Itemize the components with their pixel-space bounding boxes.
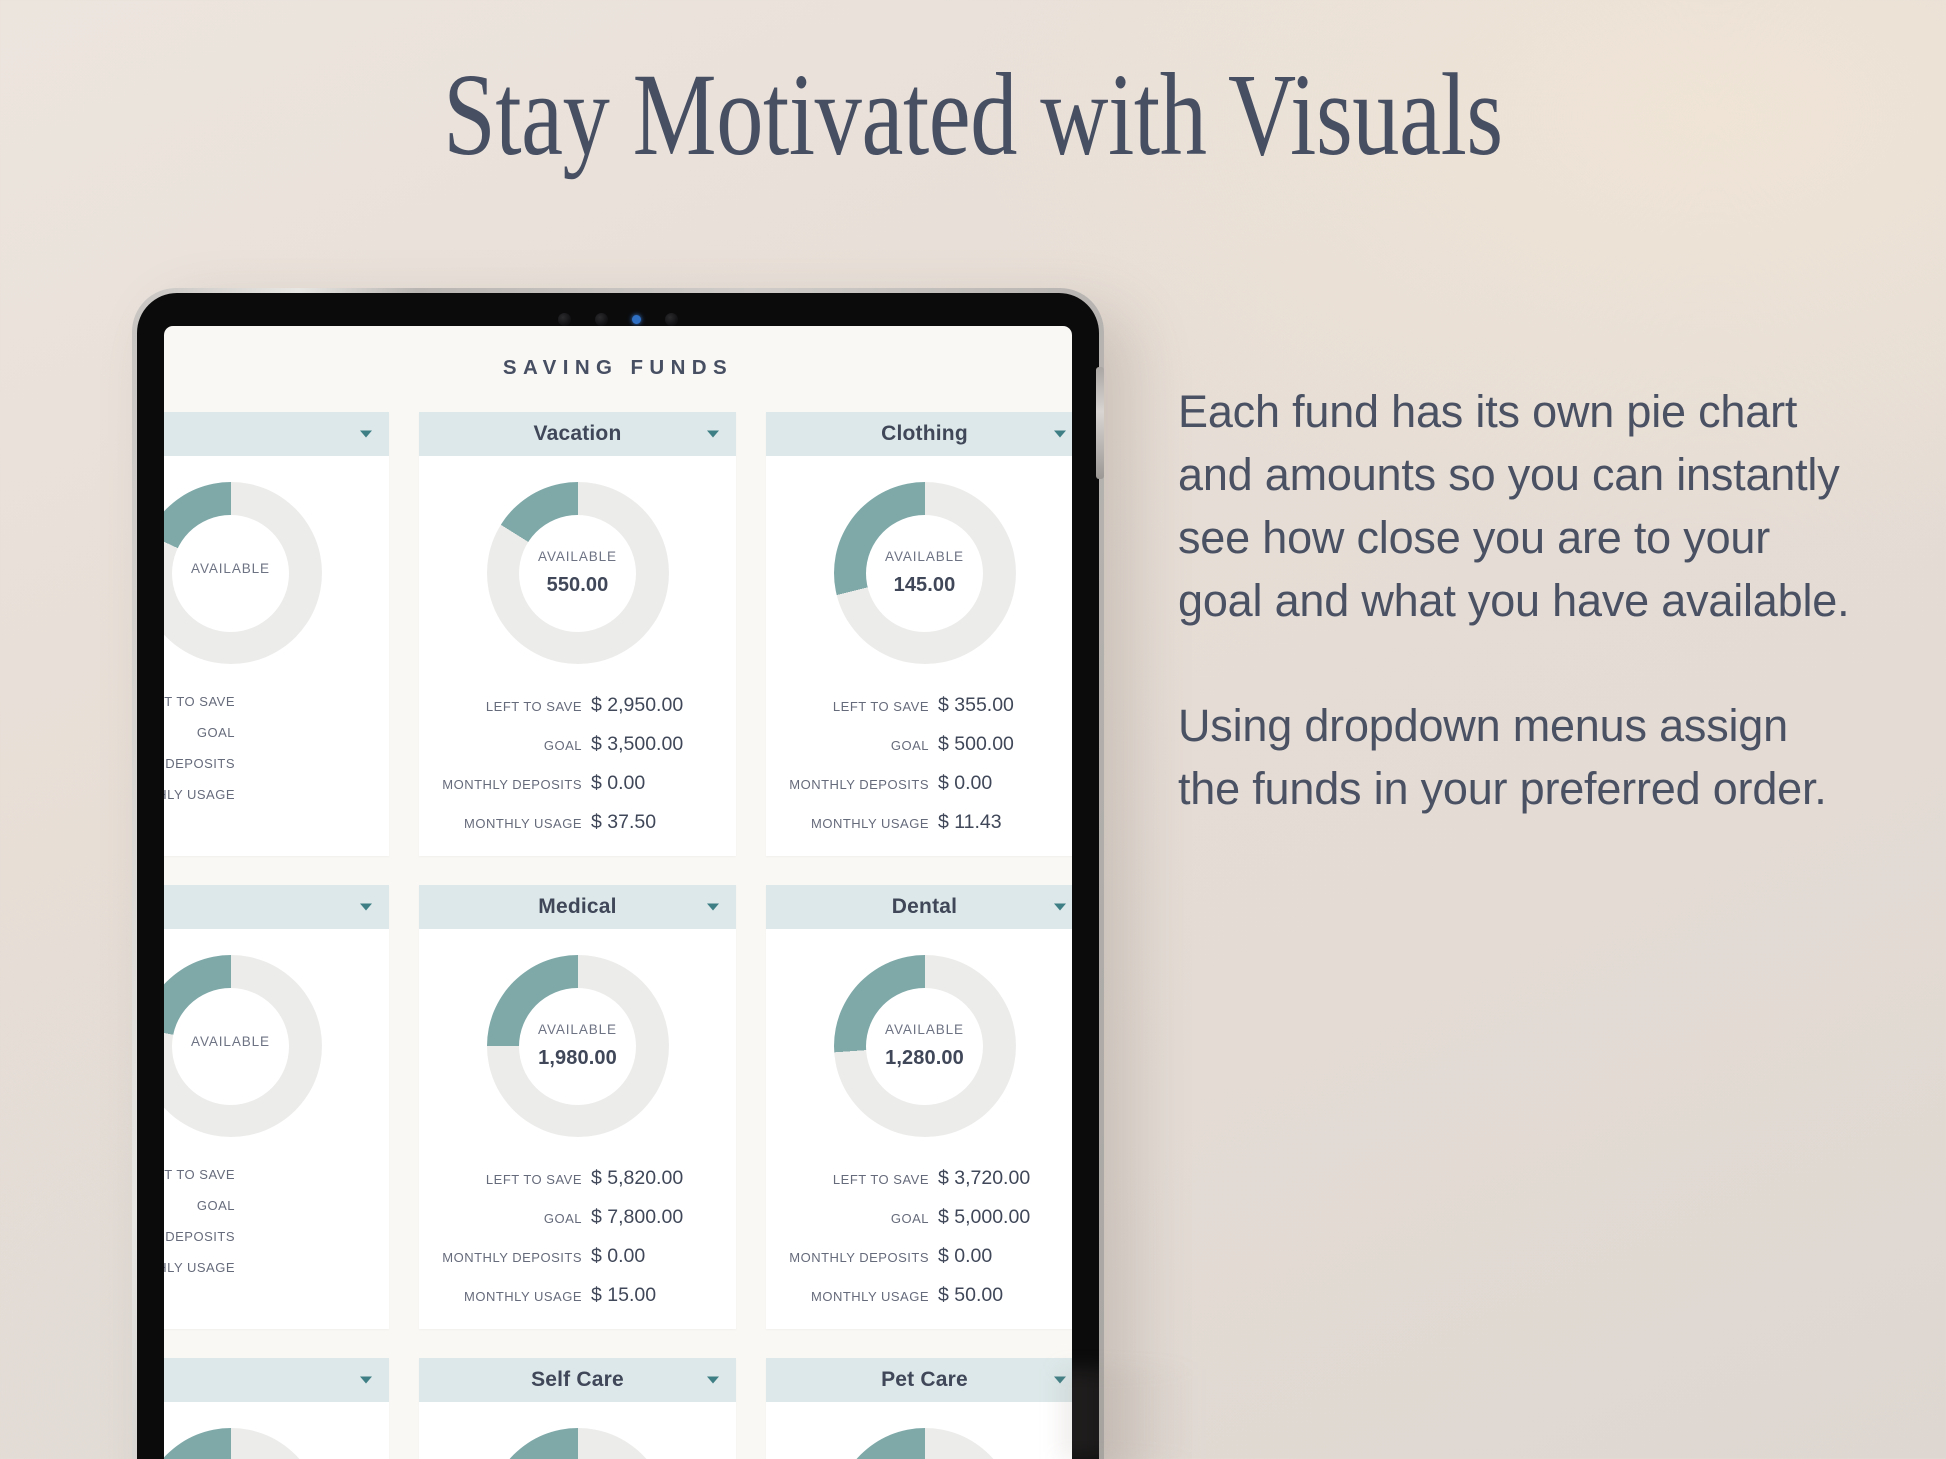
power-button[interactable]	[1096, 367, 1104, 479]
stat-monthly-deposits-label: MONTHLY DEPOSITS	[164, 756, 235, 771]
donut-center: AVAILABLE	[172, 988, 289, 1105]
copy-paragraph-1: Each fund has its own pie chart and amou…	[1178, 380, 1858, 632]
stat-goal-value: $ 3,500.00	[591, 733, 713, 756]
stat-monthly-usage-value: $ 37.50	[591, 811, 713, 834]
progress-donut-chart: AVAILABLE	[164, 1428, 322, 1459]
stat-left-to-save: LEFT TO SAVE$ 355.00	[789, 694, 1060, 717]
chevron-down-icon[interactable]	[1054, 904, 1066, 911]
fund-card-medical: MedicalAVAILABLE1,980.00LEFT TO SAVE$ 5,…	[419, 885, 736, 1329]
fund-card-header[interactable]: Clothing	[766, 412, 1072, 456]
donut-wrapper: AVAILABLE	[164, 1428, 389, 1459]
fund-card-partial: AVAILABLELEFT TO SAVEGOALMONTHLY DEPOSIT…	[164, 1358, 389, 1459]
stat-monthly-deposits: MONTHLY DEPOSITS$ 0.00	[442, 1245, 713, 1268]
stat-left-to-save-label: LEFT TO SAVE	[164, 1167, 235, 1182]
fund-card-title: Vacation	[534, 422, 622, 446]
stat-goal-label: GOAL	[544, 738, 582, 753]
chevron-down-icon[interactable]	[707, 431, 719, 438]
stat-left-to-save-label: LEFT TO SAVE	[833, 699, 929, 714]
stat-monthly-usage: MONTHLY USAGE$ 11.43	[789, 811, 1060, 834]
stat-monthly-deposits: MONTHLY DEPOSITS$ 0.00	[442, 772, 713, 795]
stat-goal: GOAL$ 3,500.00	[442, 733, 713, 756]
fund-card-row: AVAILABLELEFT TO SAVEGOALMONTHLY DEPOSIT…	[164, 1358, 1072, 1459]
screen-title: SAVING FUNDS	[164, 326, 1072, 380]
donut-wrapper: AVAILABLE	[766, 1428, 1072, 1459]
stat-monthly-deposits: MONTHLY DEPOSITS$ 0.00	[789, 772, 1060, 795]
progress-donut-chart: AVAILABLE1,280.00	[834, 955, 1016, 1137]
fund-card-title: Medical	[538, 895, 616, 919]
fund-card-body: AVAILABLELEFT TO SAVEGOALMONTHLY DEPOSIT…	[164, 456, 389, 824]
fund-card-title: Self Care	[531, 1368, 624, 1392]
fund-card-row: AVAILABLELEFT TO SAVEGOALMONTHLY DEPOSIT…	[164, 412, 1072, 885]
stat-left-to-save: LEFT TO SAVE	[164, 694, 366, 709]
stat-monthly-deposits-label: MONTHLY DEPOSITS	[442, 777, 582, 792]
stat-monthly-usage-label: MONTHLY USAGE	[464, 1289, 582, 1304]
donut-wrapper: AVAILABLE1,980.00	[419, 955, 736, 1137]
available-label: AVAILABLE	[885, 549, 964, 564]
available-value: 550.00	[547, 574, 609, 597]
stat-goal-value: $ 5,000.00	[938, 1206, 1060, 1229]
stat-monthly-usage-label: MONTHLY USAGE	[464, 816, 582, 831]
stat-goal: GOAL$ 5,000.00	[789, 1206, 1060, 1229]
stat-monthly-deposits: MONTHLY DEPOSITS$ 0.00	[789, 1245, 1060, 1268]
progress-donut-chart: AVAILABLE	[487, 1428, 669, 1459]
fund-card-row: AVAILABLELEFT TO SAVEGOALMONTHLY DEPOSIT…	[164, 885, 1072, 1358]
fund-card-body: AVAILABLE550.00LEFT TO SAVE$ 2,950.00GOA…	[419, 456, 736, 856]
fund-card-header[interactable]	[164, 885, 389, 929]
stat-monthly-usage-value: $ 50.00	[938, 1284, 1060, 1307]
progress-donut-chart: AVAILABLE	[164, 482, 322, 664]
fund-card-header[interactable]: Dental	[766, 885, 1072, 929]
camera-dot-icon	[595, 313, 608, 326]
fund-card-stats: LEFT TO SAVE$ 3,720.00GOAL$ 5,000.00MONT…	[766, 1137, 1072, 1307]
stat-monthly-deposits: MONTHLY DEPOSITS	[164, 1229, 366, 1244]
stat-monthly-deposits-label: MONTHLY DEPOSITS	[164, 1229, 235, 1244]
stat-monthly-usage-value: $ 11.43	[938, 811, 1060, 834]
stat-goal-label: GOAL	[891, 738, 929, 753]
fund-card-title: Pet Care	[881, 1368, 968, 1392]
available-label: AVAILABLE	[191, 561, 270, 576]
fund-cards-grid: AVAILABLELEFT TO SAVEGOALMONTHLY DEPOSIT…	[164, 412, 1072, 1459]
donut-center: AVAILABLE1,980.00	[519, 988, 636, 1105]
donut-wrapper: AVAILABLE	[164, 955, 389, 1137]
stat-monthly-usage: MONTHLY USAGE	[164, 787, 366, 802]
chevron-down-icon[interactable]	[360, 431, 372, 438]
stat-left-to-save: LEFT TO SAVE$ 2,950.00	[442, 694, 713, 717]
stat-left-to-save-label: LEFT TO SAVE	[833, 1172, 929, 1187]
stat-monthly-deposits-value: $ 0.00	[938, 772, 1060, 795]
stat-monthly-usage: MONTHLY USAGE$ 37.50	[442, 811, 713, 834]
stat-left-to-save-label: LEFT TO SAVE	[486, 1172, 582, 1187]
stat-monthly-usage-label: MONTHLY USAGE	[164, 1260, 235, 1275]
fund-card-stats: LEFT TO SAVEGOALMONTHLY DEPOSITSMONTHLY …	[164, 1137, 389, 1275]
chevron-down-icon[interactable]	[707, 904, 719, 911]
fund-card-vacation: VacationAVAILABLE550.00LEFT TO SAVE$ 2,9…	[419, 412, 736, 856]
stat-left-to-save-value: $ 5,820.00	[591, 1167, 713, 1190]
fund-card-stats: LEFT TO SAVEGOALMONTHLY DEPOSITSMONTHLY …	[164, 664, 389, 802]
stat-monthly-deposits: MONTHLY DEPOSITS	[164, 756, 366, 771]
stat-monthly-usage: MONTHLY USAGE$ 50.00	[789, 1284, 1060, 1307]
stat-goal-label: GOAL	[891, 1211, 929, 1226]
stat-monthly-deposits-label: MONTHLY DEPOSITS	[442, 1250, 582, 1265]
progress-donut-chart: AVAILABLE1,980.00	[487, 955, 669, 1137]
fund-card-body: AVAILABLELEFT TO SAVEGOALMONTHLY DEPOSIT…	[164, 929, 389, 1297]
page-title: Stay Motivated with Visuals	[195, 52, 1752, 177]
stat-goal-label: GOAL	[197, 1198, 235, 1213]
stat-monthly-usage-label: MONTHLY USAGE	[164, 787, 235, 802]
stat-left-to-save-value: $ 2,950.00	[591, 694, 713, 717]
fund-card-body: AVAILABLE1,280.00LEFT TO SAVE$ 3,720.00G…	[766, 929, 1072, 1329]
fund-card-header[interactable]	[164, 1358, 389, 1402]
tablet-screen: SAVING FUNDS AVAILABLELEFT TO SAVEGOALMO…	[164, 326, 1072, 1459]
copy-paragraph-2: Using dropdown menus assign the funds in…	[1178, 694, 1858, 820]
stat-left-to-save: LEFT TO SAVE$ 3,720.00	[789, 1167, 1060, 1190]
stat-goal: GOAL$ 500.00	[789, 733, 1060, 756]
fund-card-stats: LEFT TO SAVE$ 5,820.00GOAL$ 7,800.00MONT…	[419, 1137, 736, 1307]
fund-card-partial: AVAILABLELEFT TO SAVEGOALMONTHLY DEPOSIT…	[164, 885, 389, 1329]
fund-card-partial: AVAILABLELEFT TO SAVEGOALMONTHLY DEPOSIT…	[164, 412, 389, 856]
fund-card-stats: LEFT TO SAVE$ 355.00GOAL$ 500.00MONTHLY …	[766, 664, 1072, 834]
available-label: AVAILABLE	[885, 1022, 964, 1037]
stat-left-to-save: LEFT TO SAVE$ 5,820.00	[442, 1167, 713, 1190]
stat-left-to-save-label: LEFT TO SAVE	[486, 699, 582, 714]
progress-donut-chart: AVAILABLE	[834, 1428, 1016, 1459]
fund-card-header[interactable]: Self Care	[419, 1358, 736, 1402]
fund-card-stats: LEFT TO SAVE$ 2,950.00GOAL$ 3,500.00MONT…	[419, 664, 736, 834]
stat-goal-value: $ 500.00	[938, 733, 1060, 756]
donut-wrapper: AVAILABLE	[419, 1428, 736, 1459]
donut-center: AVAILABLE550.00	[519, 515, 636, 632]
fund-card-header[interactable]: Medical	[419, 885, 736, 929]
stat-monthly-deposits-value: $ 0.00	[591, 772, 713, 795]
available-value: 1,280.00	[885, 1047, 964, 1070]
stat-monthly-usage-label: MONTHLY USAGE	[811, 1289, 929, 1304]
fund-card-dental: DentalAVAILABLE1,280.00LEFT TO SAVE$ 3,7…	[766, 885, 1072, 1329]
donut-wrapper: AVAILABLE145.00	[766, 482, 1072, 664]
camera-lens-icon	[665, 313, 678, 326]
stat-monthly-usage-label: MONTHLY USAGE	[811, 816, 929, 831]
stat-monthly-deposits-label: MONTHLY DEPOSITS	[789, 777, 929, 792]
stat-monthly-deposits-label: MONTHLY DEPOSITS	[789, 1250, 929, 1265]
donut-center: AVAILABLE	[172, 515, 289, 632]
fund-card-body: AVAILABLE1,980.00LEFT TO SAVE$ 5,820.00G…	[419, 929, 736, 1329]
stat-goal: GOAL	[164, 725, 366, 740]
stat-monthly-usage-value: $ 15.00	[591, 1284, 713, 1307]
fund-card-body: AVAILABLE145.00LEFT TO SAVE$ 355.00GOAL$…	[766, 456, 1072, 856]
stat-goal-value: $ 7,800.00	[591, 1206, 713, 1229]
stat-monthly-usage: MONTHLY USAGE$ 15.00	[442, 1284, 713, 1307]
stat-goal: GOAL$ 7,800.00	[442, 1206, 713, 1229]
stat-left-to-save-value: $ 355.00	[938, 694, 1060, 717]
donut-wrapper: AVAILABLE	[164, 482, 389, 664]
fund-card-pet-care: Pet CareAVAILABLELEFT TO SAVEGOALMONTHLY…	[766, 1358, 1072, 1459]
tablet-bezel: SAVING FUNDS AVAILABLELEFT TO SAVEGOALMO…	[137, 293, 1099, 1459]
marketing-copy: Each fund has its own pie chart and amou…	[1178, 380, 1858, 820]
chevron-down-icon[interactable]	[360, 1377, 372, 1384]
stat-goal-label: GOAL	[197, 725, 235, 740]
device-shadow	[1060, 1369, 1200, 1459]
fund-card-body: AVAILABLELEFT TO SAVEGOALMONTHLY DEPOSIT…	[766, 1402, 1072, 1459]
fund-card-header[interactable]: Pet Care	[766, 1358, 1072, 1402]
stat-left-to-save-value: $ 3,720.00	[938, 1167, 1060, 1190]
available-value: 1,980.00	[538, 1047, 617, 1070]
stat-goal: GOAL	[164, 1198, 366, 1213]
fund-card-title: Dental	[892, 895, 957, 919]
fund-card-body: AVAILABLELEFT TO SAVEGOALMONTHLY DEPOSIT…	[419, 1402, 736, 1459]
progress-donut-chart: AVAILABLE	[164, 955, 322, 1137]
fund-card-self-care: Self CareAVAILABLELEFT TO SAVEGOALMONTHL…	[419, 1358, 736, 1459]
donut-wrapper: AVAILABLE1,280.00	[766, 955, 1072, 1137]
stat-goal-label: GOAL	[544, 1211, 582, 1226]
fund-card-title: Clothing	[881, 422, 968, 446]
stat-monthly-deposits-value: $ 0.00	[591, 1245, 713, 1268]
donut-wrapper: AVAILABLE550.00	[419, 482, 736, 664]
available-value: 145.00	[894, 574, 956, 597]
stat-monthly-usage: MONTHLY USAGE	[164, 1260, 366, 1275]
fund-card-header[interactable]	[164, 412, 389, 456]
available-label: AVAILABLE	[538, 549, 617, 564]
stat-left-to-save-label: LEFT TO SAVE	[164, 694, 235, 709]
donut-center: AVAILABLE1,280.00	[866, 988, 983, 1105]
camera-array	[137, 313, 1099, 326]
available-label: AVAILABLE	[191, 1034, 270, 1049]
fund-card-header[interactable]: Vacation	[419, 412, 736, 456]
progress-donut-chart: AVAILABLE145.00	[834, 482, 1016, 664]
available-label: AVAILABLE	[538, 1022, 617, 1037]
fund-card-clothing: ClothingAVAILABLE145.00LEFT TO SAVE$ 355…	[766, 412, 1072, 856]
stat-monthly-deposits-value: $ 0.00	[938, 1245, 1060, 1268]
fund-card-body: AVAILABLELEFT TO SAVEGOALMONTHLY DEPOSIT…	[164, 1402, 389, 1459]
donut-center: AVAILABLE145.00	[866, 515, 983, 632]
camera-dot-icon	[558, 313, 571, 326]
progress-donut-chart: AVAILABLE550.00	[487, 482, 669, 664]
chevron-down-icon[interactable]	[1054, 431, 1066, 438]
sensor-led-icon	[632, 315, 641, 324]
stat-left-to-save: LEFT TO SAVE	[164, 1167, 366, 1182]
chevron-down-icon[interactable]	[360, 904, 372, 911]
tablet-device: SAVING FUNDS AVAILABLELEFT TO SAVEGOALMO…	[132, 288, 1104, 1459]
chevron-down-icon[interactable]	[707, 1377, 719, 1384]
